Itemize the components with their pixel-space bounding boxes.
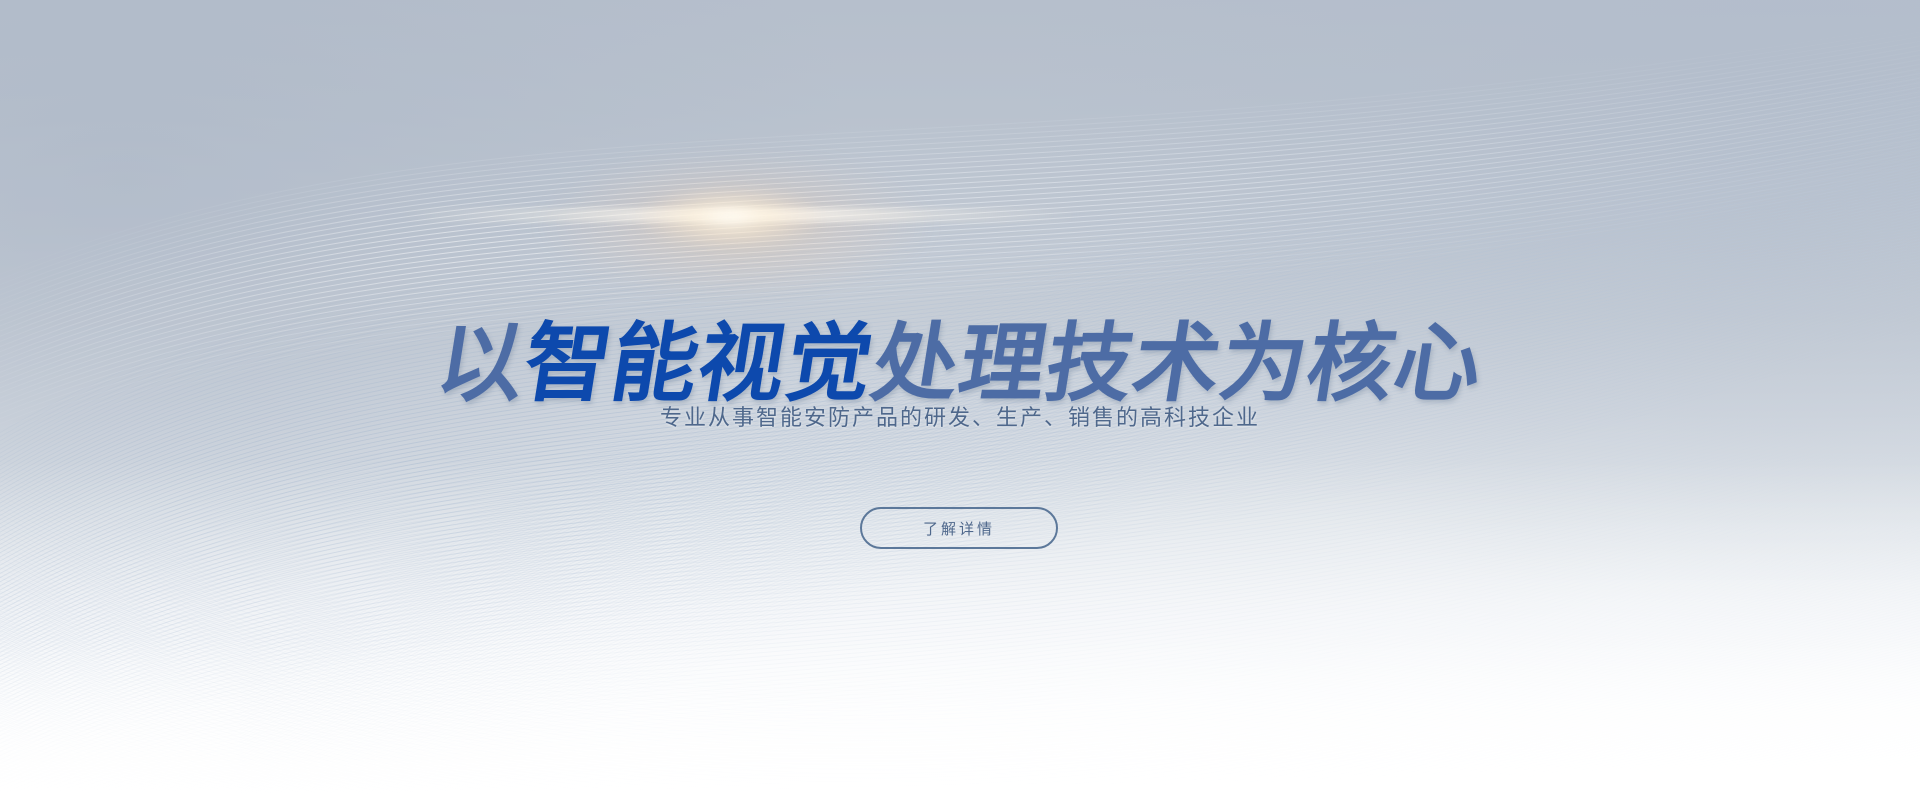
learn-more-button[interactable]: 了解详情: [860, 507, 1058, 549]
headline-segment-3: 处理技术为核心: [866, 321, 1489, 407]
page-subtitle: 专业从事智能安防产品的研发、生产、销售的高科技企业: [0, 400, 1920, 432]
hero-content: 以智能视觉处理技术为核心 专业从事智能安防产品的研发、生产、销售的高科技企业 了…: [0, 0, 1920, 800]
learn-more-button-label: 了解详情: [923, 518, 995, 539]
headline-segment-accent: 智能视觉: [518, 321, 880, 407]
headline-segment-1: 以: [431, 321, 532, 407]
page-title: 以智能视觉处理技术为核心: [0, 321, 1920, 407]
hero-banner: 以智能视觉处理技术为核心 专业从事智能安防产品的研发、生产、销售的高科技企业 了…: [0, 0, 1920, 800]
